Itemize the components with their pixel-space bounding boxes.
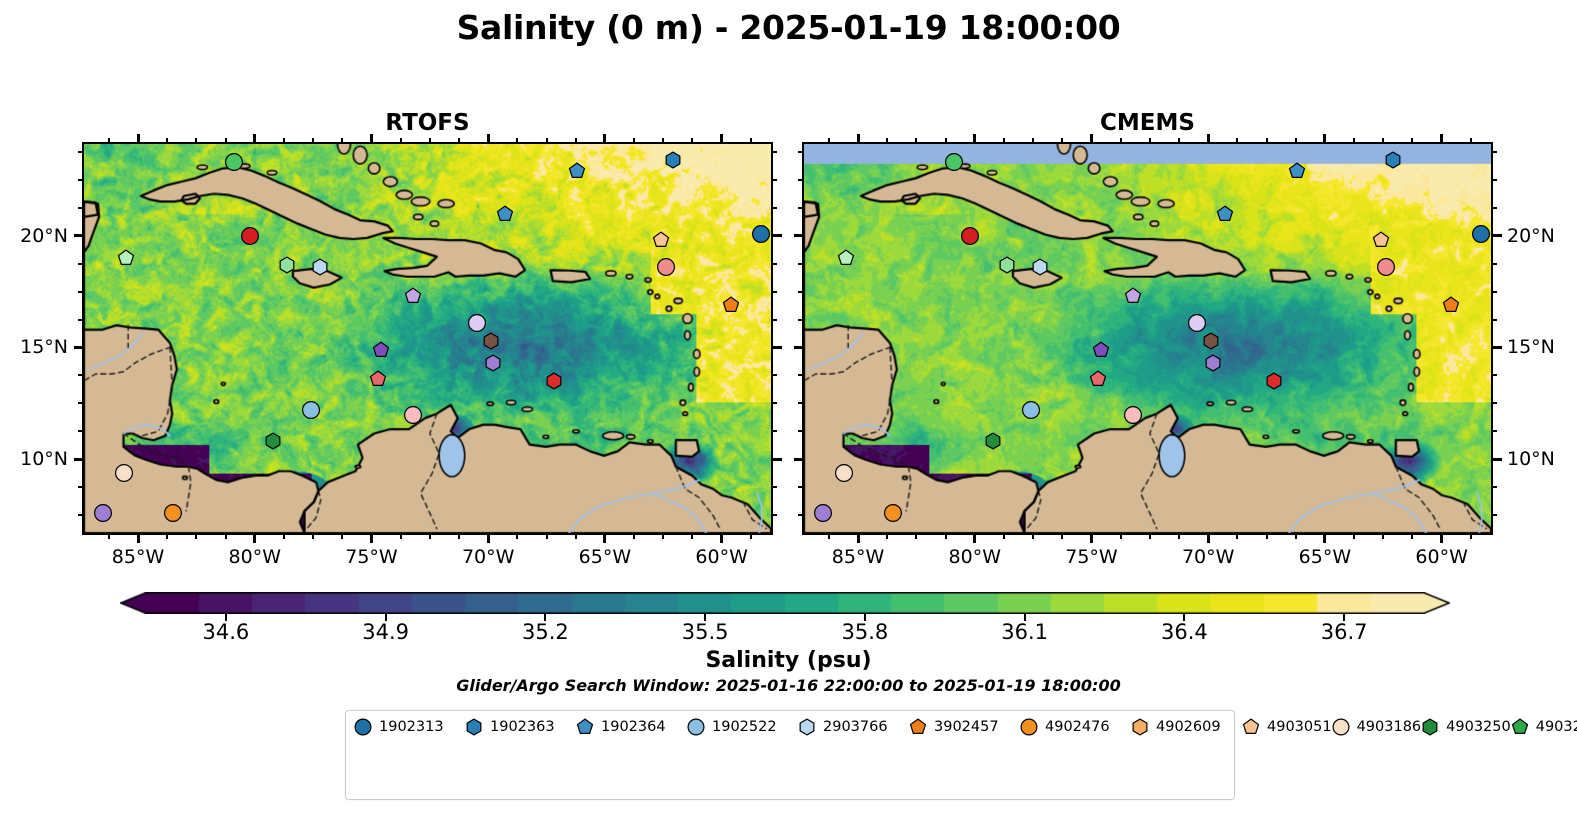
float-marker-1902522[interactable] [301,401,320,424]
x-tick-minor [662,138,664,142]
float-marker-4903563[interactable] [961,227,980,250]
x-tick-minor [546,138,548,142]
x-tick-minor [1061,138,1063,142]
float-marker-1902522[interactable] [1021,401,1040,424]
legend-entry-1902313[interactable]: 1902313 [354,717,465,738]
legend-label: 1902364 [601,719,666,735]
float-marker-4903562[interactable] [837,249,855,271]
x-tick-minor [400,535,402,539]
colorbar-ticklabel: 36.7 [1321,620,1368,644]
y-tick-minor [773,514,777,516]
x-tick-major [973,535,976,543]
x-tick-minor [1353,138,1355,142]
legend-label: 4903186 [1357,719,1422,735]
x-tick-minor [1003,535,1005,539]
float-marker-4903767[interactable] [656,258,675,281]
x-tick-minor [828,138,830,142]
x-tick-minor [195,138,197,142]
y-tick-major [773,234,782,237]
float-marker-4902476[interactable] [884,503,903,526]
x-ticklabel: 75°W [1065,546,1117,568]
legend-entry-4903276[interactable]: 4903276 [1511,717,1577,738]
x-tick-minor [633,138,635,142]
x-tick-minor [312,138,314,142]
y-tick-minor [798,263,802,265]
y-tick-minor [798,486,802,488]
y-tick-minor [1493,151,1497,153]
y-tick-major [773,346,782,349]
colorbar-ticklabel: 36.4 [1161,620,1208,644]
y-tick-minor [78,374,82,376]
y-tick-major [1493,458,1502,461]
float-marker-4903629[interactable] [545,372,563,394]
x-tick-minor [341,138,343,142]
map-panel-cmems[interactable] [802,142,1493,535]
x-tick-major [857,134,860,142]
x-tick-minor [575,535,577,539]
float-marker-4903766[interactable] [369,370,387,392]
y-tick-minor [798,514,802,516]
y-tick-minor [773,430,777,432]
salinity-field-rtofs [84,144,771,533]
x-tick-minor [1149,138,1151,142]
x-tick-minor [1266,138,1268,142]
x-tick-major [253,134,256,142]
y-ticklabel-right: 10°N [1507,448,1555,470]
legend-marker-icon [1131,718,1149,736]
x-tick-minor [283,535,285,539]
x-tick-minor [1120,535,1122,539]
float-marker-6903134[interactable] [814,503,833,526]
legend-label: 3902457 [934,719,999,735]
x-tick-major [1440,535,1443,543]
y-tick-major [74,458,83,461]
float-marker-4902476[interactable] [164,503,183,526]
float-marker-1902364[interactable] [1288,162,1306,184]
y-tick-minor [1493,207,1497,209]
x-tick-minor [225,138,227,142]
float-marker-3902457[interactable] [722,296,740,318]
y-tick-minor [78,430,82,432]
x-tick-major [1323,134,1326,142]
x-tick-minor [1382,535,1384,539]
x-tick-minor [1353,535,1355,539]
legend-marker-icon [465,718,483,736]
float-marker-4903629[interactable] [1265,372,1283,394]
colorbar-ticklabel: 34.9 [362,620,409,644]
float-marker-6903134[interactable] [94,503,113,526]
float-marker-1902313[interactable] [1472,224,1491,247]
y-tick-minor [1493,179,1497,181]
float-marker-4903186[interactable] [115,463,134,486]
float-marker-2903766[interactable] [1031,258,1049,280]
legend-entry-1902522[interactable]: 1902522 [687,717,798,738]
x-tick-minor [662,535,664,539]
legend-marker-icon [687,718,705,736]
legend-marker-icon [1242,718,1260,736]
y-tick-minor [78,291,82,293]
float-marker-4903768[interactable] [404,405,423,428]
legend-marker-icon [576,718,594,736]
x-tick-minor [458,535,460,539]
y-tick-minor [78,179,82,181]
x-tick-minor [886,535,888,539]
legend-marker-icon [909,718,927,736]
x-tick-major [720,134,723,142]
y-tick-major [1493,346,1502,349]
y-tick-minor [1493,486,1497,488]
x-tick-major [487,134,490,142]
x-tick-major [137,134,140,142]
x-ticklabel: 65°W [579,546,631,568]
float-marker-6903135[interactable] [404,287,422,309]
legend-entry-4903250[interactable]: 4903250 [1421,717,1511,738]
x-tick-minor [546,535,548,539]
y-tick-minor [773,486,777,488]
x-tick-minor [108,138,110,142]
x-tick-minor [1061,535,1063,539]
y-tick-minor [78,151,82,153]
y-tick-major [773,458,782,461]
x-tick-major [603,134,606,142]
y-tick-major [74,234,83,237]
y-tick-minor [78,402,82,404]
float-legend[interactable]: 1902313190236319023641902522290376639024… [345,710,1235,800]
y-ticklabel-left: 20°N [0,225,68,247]
x-tick-minor [1411,535,1413,539]
legend-label: 1902363 [490,719,555,735]
legend-marker-icon [354,718,372,736]
x-tick-minor [225,535,227,539]
x-tick-minor [1236,535,1238,539]
map-panel-rtofs[interactable] [82,142,773,535]
x-tick-minor [691,535,693,539]
x-tick-major [857,535,860,543]
x-tick-minor [516,138,518,142]
float-marker-4903051[interactable] [652,231,670,253]
x-tick-minor [1411,138,1413,142]
legend-entry-1902364[interactable]: 1902364 [576,717,687,738]
legend-marker-icon [1511,718,1529,736]
x-tick-minor [750,138,752,142]
y-tick-major [794,234,803,237]
y-ticklabel-left: 15°N [0,336,68,358]
legend-marker-icon [1332,718,1350,736]
figure-root: Salinity (0 m) - 2025-01-19 18:00:00 RTO… [0,0,1577,827]
x-tick-minor [915,138,917,142]
legend-entry-1902363[interactable]: 1902363 [465,717,576,738]
float-marker-1902313[interactable] [752,224,771,247]
x-tick-minor [400,138,402,142]
float-marker-4903051[interactable] [1372,231,1390,253]
float-marker-4903768[interactable] [1124,405,1143,428]
float-marker-4903563[interactable] [241,227,260,250]
x-ticklabel: 70°W [462,546,514,568]
x-tick-minor [1382,138,1384,142]
y-tick-minor [1493,514,1497,516]
float-marker-5906437[interactable] [1092,341,1110,363]
float-marker-3902457[interactable] [1442,296,1460,318]
x-tick-minor [1470,138,1472,142]
x-tick-minor [1295,535,1297,539]
y-tick-minor [798,291,802,293]
legend-label: 1902313 [379,719,444,735]
float-marker-4903250[interactable] [984,432,1002,454]
float-marker-5906478[interactable] [484,354,502,376]
colorbar-label: Salinity (psu) [0,648,1577,673]
panel-title-cmems: CMEMS [802,110,1493,136]
y-tick-minor [1493,291,1497,293]
y-tick-minor [78,319,82,321]
x-tick-minor [915,535,917,539]
colorbar-ticklabel: 35.8 [841,620,888,644]
float-marker-4903559[interactable] [998,256,1016,278]
y-ticklabel-right: 15°N [1507,336,1555,358]
x-ticklabel: 80°W [229,546,281,568]
x-tick-minor [886,138,888,142]
x-tick-major [1090,535,1093,543]
x-tick-minor [195,535,197,539]
y-tick-major [74,346,83,349]
x-tick-minor [1003,138,1005,142]
float-marker-4903766[interactable] [1089,370,1107,392]
float-marker-4903559[interactable] [278,256,296,278]
x-tick-major [370,535,373,543]
x-tick-major [137,535,140,543]
x-ticklabel: 70°W [1182,546,1234,568]
legend-grid: 1902313190236319023641902522290376639024… [354,717,1577,738]
legend-label: 2903766 [823,719,888,735]
y-tick-minor [773,151,777,153]
legend-entry-4902476[interactable]: 4902476 [1020,717,1131,738]
float-marker-4903186[interactable] [835,463,854,486]
float-marker-5906437[interactable] [372,341,390,363]
legend-label: 4902476 [1045,719,1110,735]
x-tick-minor [1149,535,1151,539]
y-tick-minor [773,207,777,209]
y-tick-minor [773,374,777,376]
float-marker-4903250[interactable] [264,432,282,454]
x-tick-minor [1032,138,1034,142]
x-tick-minor [283,138,285,142]
x-tick-minor [1120,138,1122,142]
legend-label: 4902609 [1156,719,1221,735]
legend-marker-icon [1421,718,1439,736]
colorbar-ticklabel: 35.2 [522,620,569,644]
float-marker-4903354[interactable] [944,153,963,176]
x-tick-minor [312,535,314,539]
float-marker-4903354[interactable] [224,153,243,176]
x-tick-major [603,535,606,543]
x-tick-minor [750,535,752,539]
float-marker-6903137[interactable] [482,332,500,354]
y-tick-minor [798,374,802,376]
y-ticklabel-right: 20°N [1507,225,1555,247]
x-tick-minor [1178,138,1180,142]
y-tick-minor [773,291,777,293]
y-tick-minor [78,207,82,209]
legend-marker-icon [1020,718,1038,736]
x-tick-major [973,134,976,142]
float-marker-6903137[interactable] [1202,332,1220,354]
x-tick-minor [945,138,947,142]
x-tick-minor [945,535,947,539]
legend-label: 4903051 [1267,719,1332,735]
x-tick-major [253,535,256,543]
salinity-field-cmems [804,144,1491,533]
colorbar-ticklabel: 36.1 [1001,620,1048,644]
legend-entry-4903186[interactable]: 4903186 [1332,717,1422,738]
x-tick-major [370,134,373,142]
colorbar[interactable] [120,592,1450,614]
y-tick-minor [1493,263,1497,265]
y-ticklabel-left: 10°N [0,448,68,470]
x-tick-major [1440,134,1443,142]
float-marker-6903135[interactable] [1124,287,1142,309]
colorbar-ticklabel: 34.6 [202,620,249,644]
x-tick-minor [516,535,518,539]
float-marker-1902363[interactable] [1384,151,1402,173]
panel-title-rtofs: RTOFS [82,110,773,136]
y-tick-minor [1493,319,1497,321]
x-ticklabel: 75°W [345,546,397,568]
x-tick-minor [429,138,431,142]
x-tick-minor [341,535,343,539]
legend-label: 4903250 [1446,719,1511,735]
legend-marker-icon [798,718,816,736]
x-tick-major [1207,535,1210,543]
float-marker-5906478[interactable] [1204,354,1222,376]
legend-entry-3902457[interactable]: 3902457 [909,717,1020,738]
x-tick-minor [166,138,168,142]
y-tick-minor [773,263,777,265]
colorbar-ticklabel: 35.5 [682,620,729,644]
x-tick-minor [1178,535,1180,539]
y-tick-minor [773,179,777,181]
x-ticklabel: 65°W [1299,546,1351,568]
float-marker-4903562[interactable] [117,249,135,271]
float-marker-1902364b[interactable] [496,205,514,227]
x-tick-minor [166,535,168,539]
x-tick-minor [1295,138,1297,142]
y-tick-major [794,346,803,349]
y-tick-minor [798,430,802,432]
search-window-label: Glider/Argo Search Window: 2025-01-16 22… [0,676,1577,695]
y-tick-minor [1493,430,1497,432]
x-tick-major [1090,134,1093,142]
x-tick-major [720,535,723,543]
page-title: Salinity (0 m) - 2025-01-19 18:00:00 [0,8,1577,47]
x-tick-minor [691,138,693,142]
x-tick-minor [1032,535,1034,539]
legend-label: 1902522 [712,719,777,735]
float-marker-1902363[interactable] [664,151,682,173]
x-ticklabel: 60°W [1415,546,1467,568]
y-tick-minor [1493,374,1497,376]
x-tick-minor [828,535,830,539]
y-tick-minor [798,151,802,153]
float-marker-4903767[interactable] [1376,258,1395,281]
legend-entry-2903766[interactable]: 2903766 [798,717,909,738]
y-tick-minor [798,402,802,404]
x-tick-major [1323,535,1326,543]
x-ticklabel: 85°W [112,546,164,568]
x-ticklabel: 60°W [695,546,747,568]
y-tick-minor [773,319,777,321]
legend-entry-4903051[interactable]: 4903051 [1242,717,1332,738]
legend-label: 4903276 [1536,719,1577,735]
x-tick-minor [1470,535,1472,539]
colorbar-gradient [120,592,1450,614]
x-tick-major [487,535,490,543]
y-tick-minor [798,179,802,181]
x-tick-major [1207,134,1210,142]
x-ticklabel: 85°W [832,546,884,568]
y-tick-minor [78,486,82,488]
y-tick-major [794,458,803,461]
x-tick-minor [1236,138,1238,142]
x-tick-minor [1266,535,1268,539]
x-ticklabel: 80°W [949,546,1001,568]
x-tick-minor [458,138,460,142]
x-tick-minor [575,138,577,142]
y-tick-minor [1493,402,1497,404]
y-tick-minor [78,263,82,265]
float-marker-2903766[interactable] [311,258,329,280]
y-tick-minor [798,207,802,209]
x-tick-minor [108,535,110,539]
y-tick-major [1493,234,1502,237]
y-tick-minor [78,514,82,516]
float-marker-1902364[interactable] [568,162,586,184]
y-tick-minor [798,319,802,321]
float-marker-1902364b[interactable] [1216,205,1234,227]
legend-entry-4902609[interactable]: 4902609 [1131,717,1242,738]
x-tick-minor [633,535,635,539]
y-tick-minor [773,402,777,404]
x-tick-minor [429,535,431,539]
